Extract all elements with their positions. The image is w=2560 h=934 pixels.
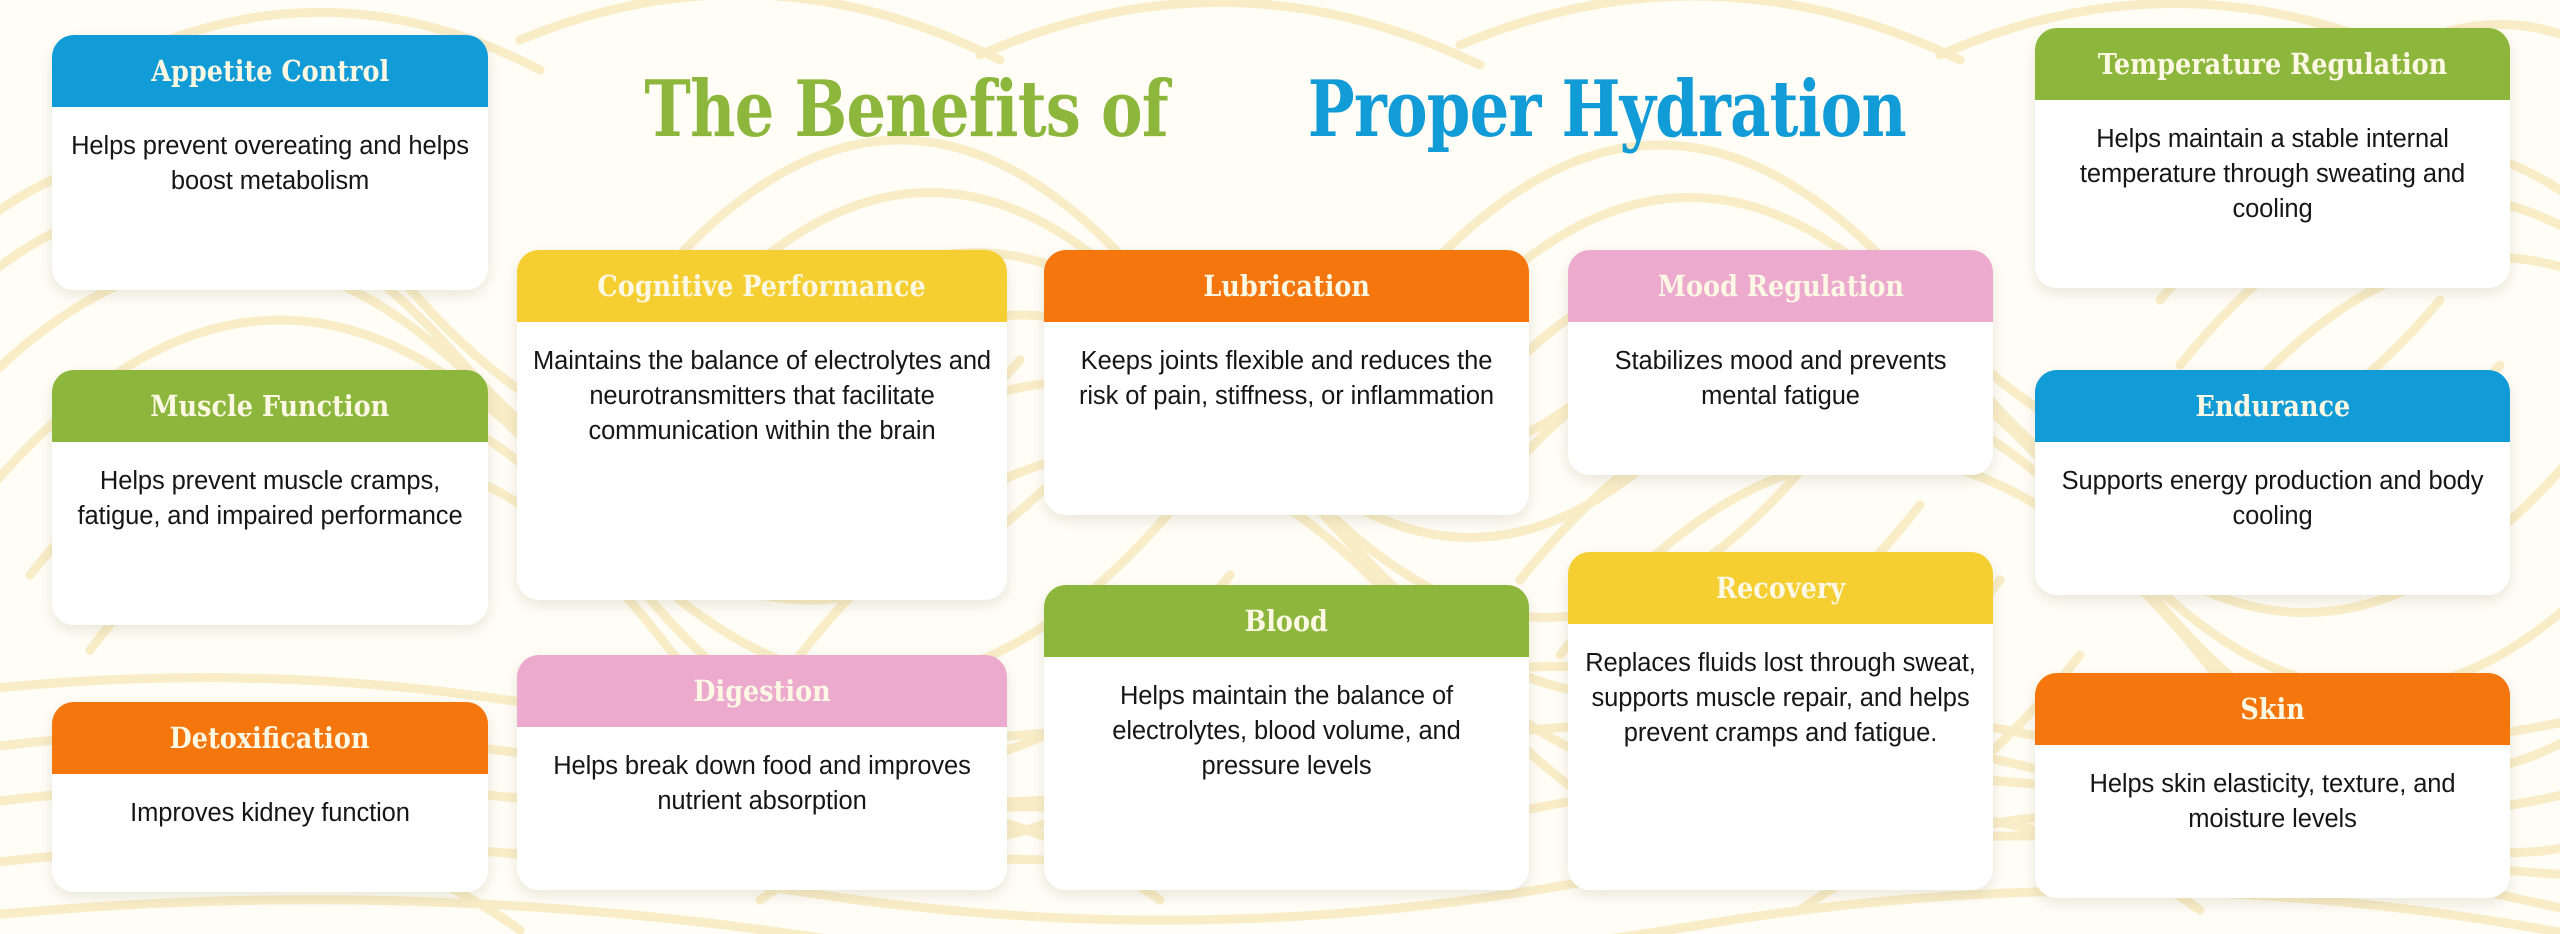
page-title-part-two: Proper Hydration: [1308, 69, 1906, 151]
benefit-card[interactable]: Mood RegulationStabilizes mood and preve…: [1568, 250, 1993, 475]
benefit-card-header: Cognitive Performance: [517, 250, 1007, 322]
benefit-card-title: Skin: [2240, 695, 2304, 724]
benefit-card[interactable]: Cognitive PerformanceMaintains the balan…: [517, 250, 1007, 600]
infographic-canvas: The Benefits of Proper Hydration Appetit…: [0, 0, 2560, 934]
benefit-card-body: Helps skin elasticity, texture, and mois…: [2035, 745, 2510, 898]
benefit-card-body: Helps prevent muscle cramps, fatigue, an…: [52, 442, 488, 625]
benefit-card-body: Helps break down food and improves nutri…: [517, 727, 1007, 890]
benefit-card-body: Stabilizes mood and prevents mental fati…: [1568, 322, 1993, 475]
benefit-card-body: Improves kidney function: [52, 774, 488, 892]
benefit-card[interactable]: DigestionHelps break down food and impro…: [517, 655, 1007, 890]
benefit-card-description: Helps prevent muscle cramps, fatigue, an…: [68, 464, 472, 534]
benefit-card-description: Helps maintain a stable internal tempera…: [2051, 122, 2494, 228]
benefit-card-body: Helps prevent overeating and helps boost…: [52, 107, 488, 290]
benefit-card-description: Keeps joints flexible and reduces the ri…: [1060, 344, 1513, 414]
benefit-card[interactable]: Muscle FunctionHelps prevent muscle cram…: [52, 370, 488, 625]
page-title: The Benefits of Proper Hydration: [520, 69, 2040, 151]
benefit-card-description: Maintains the balance of electrolytes an…: [533, 344, 991, 450]
benefit-card-header: Temperature Regulation: [2035, 28, 2510, 100]
benefit-card-body: Maintains the balance of electrolytes an…: [517, 322, 1007, 600]
benefit-card[interactable]: Appetite ControlHelps prevent overeating…: [52, 35, 488, 290]
benefit-card-header: Detoxification: [52, 702, 488, 774]
benefit-card[interactable]: EnduranceSupports energy production and …: [2035, 370, 2510, 595]
benefit-card-header: Mood Regulation: [1568, 250, 1993, 322]
benefit-card-title: Muscle Function: [151, 392, 390, 421]
benefit-card[interactable]: DetoxificationImproves kidney function: [52, 702, 488, 892]
benefit-card[interactable]: RecoveryReplaces fluids lost through swe…: [1568, 552, 1993, 890]
benefit-card-description: Supports energy production and body cool…: [2051, 464, 2494, 534]
benefit-card-body: Keeps joints flexible and reduces the ri…: [1044, 322, 1529, 515]
benefit-card-title: Recovery: [1716, 574, 1845, 603]
benefit-card-title: Lubrication: [1203, 272, 1370, 301]
benefit-card-title: Mood Regulation: [1657, 272, 1903, 301]
benefit-card-description: Stabilizes mood and prevents mental fati…: [1584, 344, 1977, 414]
benefit-card-title: Temperature Regulation: [2098, 50, 2447, 79]
benefit-card-description: Helps maintain the balance of electrolyt…: [1060, 679, 1513, 785]
benefit-card-description: Helps prevent overeating and helps boost…: [68, 129, 472, 199]
benefit-card[interactable]: BloodHelps maintain the balance of elect…: [1044, 585, 1529, 890]
benefit-card-header: Skin: [2035, 673, 2510, 745]
benefit-card-header: Blood: [1044, 585, 1529, 657]
benefit-card-body: Helps maintain the balance of electrolyt…: [1044, 657, 1529, 890]
benefit-card-title: Detoxification: [170, 724, 370, 753]
benefit-card-body: Helps maintain a stable internal tempera…: [2035, 100, 2510, 288]
benefit-card-header: Appetite Control: [52, 35, 488, 107]
benefit-card-title: Digestion: [693, 677, 830, 706]
benefit-card-header: Digestion: [517, 655, 1007, 727]
benefit-card[interactable]: SkinHelps skin elasticity, texture, and …: [2035, 673, 2510, 898]
benefit-card-header: Muscle Function: [52, 370, 488, 442]
benefit-card-description: Helps break down food and improves nutri…: [533, 749, 991, 819]
benefit-card[interactable]: Temperature RegulationHelps maintain a s…: [2035, 28, 2510, 288]
benefit-card-title: Cognitive Performance: [598, 272, 926, 301]
benefit-card[interactable]: LubricationKeeps joints flexible and red…: [1044, 250, 1529, 515]
benefit-card-title: Blood: [1245, 607, 1328, 636]
benefit-card-description: Improves kidney function: [130, 796, 410, 831]
benefit-card-body: Supports energy production and body cool…: [2035, 442, 2510, 595]
benefit-card-header: Lubrication: [1044, 250, 1529, 322]
benefit-card-description: Replaces fluids lost through sweat, supp…: [1584, 646, 1977, 752]
benefit-card-title: Appetite Control: [151, 57, 389, 86]
benefit-card-header: Endurance: [2035, 370, 2510, 442]
page-title-part-one: The Benefits of: [644, 69, 1167, 151]
benefit-card-title: Endurance: [2195, 392, 2350, 421]
benefit-card-body: Replaces fluids lost through sweat, supp…: [1568, 624, 1993, 890]
benefit-card-description: Helps skin elasticity, texture, and mois…: [2051, 767, 2494, 837]
benefit-card-header: Recovery: [1568, 552, 1993, 624]
